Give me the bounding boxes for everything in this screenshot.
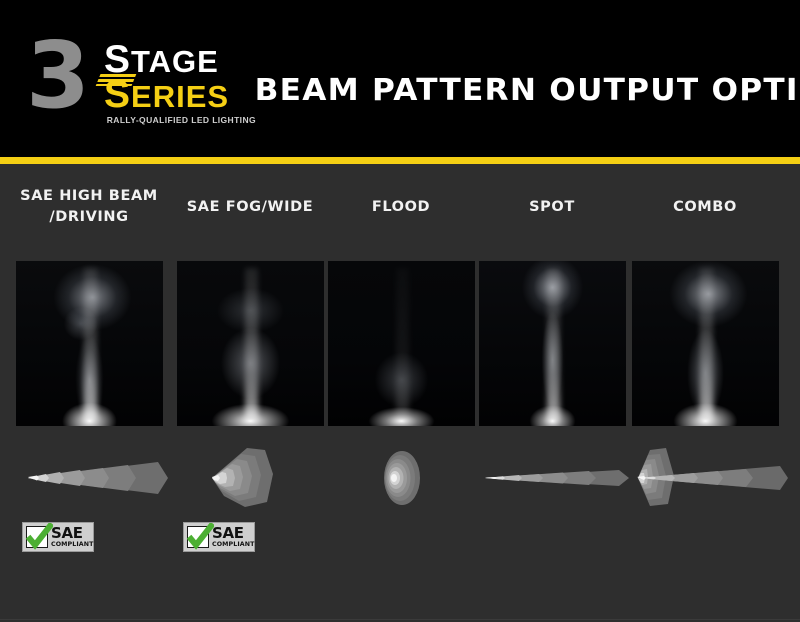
photo-road-streak (84, 268, 97, 420)
beam-column-sae-high-beam-driving: SAE HIGH BEAM /DRIVING (14, 164, 164, 622)
bottom-divider (0, 619, 800, 620)
column-header-flood: FLOOD (316, 197, 486, 218)
logo-series-cap: S (104, 73, 131, 116)
photo-road-streak (700, 268, 713, 420)
column-header-sae-fog-wide: SAE FOG/WIDE (165, 197, 335, 218)
beam-diagram-flood (320, 444, 488, 512)
badge-text: SAE COMPLIANT (212, 526, 255, 548)
badge-title: SAE (212, 526, 255, 541)
beam-column-combo: COMBO (630, 164, 780, 622)
badge-subtitle: COMPLIANT (212, 542, 255, 548)
logo-series-rest: ERIES (131, 79, 229, 114)
column-header-spot: SPOT (467, 197, 637, 218)
green-check-icon (186, 523, 214, 551)
badge-title: SAE (51, 526, 94, 541)
photo-road-streak (547, 268, 560, 420)
column-label-line1: SAE HIGH BEAM (4, 186, 174, 207)
beam-diagram-driving (8, 444, 176, 512)
column-label-line1: FLOOD (316, 197, 486, 218)
beam-diagram-wide (169, 444, 337, 512)
column-header-combo: COMBO (620, 197, 790, 218)
photo-road-streak (245, 268, 258, 420)
logo-word-series: SERIES (104, 78, 244, 113)
green-check-icon (25, 523, 53, 551)
beam-column-flood: FLOOD (326, 164, 476, 622)
beam-photo-flood (328, 261, 475, 426)
beam-photo-spot (479, 261, 626, 426)
column-label-line2: /DRIVING (4, 207, 174, 228)
logo-stage-rest: TAGE (131, 44, 219, 79)
photo-road-streak (396, 268, 409, 420)
beam-column-spot: SPOT (477, 164, 627, 622)
beam-diagram-spot (471, 444, 639, 512)
sae-compliant-badge-wide: SAE COMPLIANT (183, 522, 255, 552)
sae-compliant-badge-driving: SAE COMPLIANT (22, 522, 94, 552)
column-label-line1: COMBO (620, 197, 790, 218)
column-header-sae-high-beam-driving: SAE HIGH BEAM /DRIVING (4, 186, 174, 228)
badge-subtitle: COMPLIANT (51, 542, 94, 548)
logo-wordmark: STAGE SERIES RALLY-QUALIFIED LED LIGHTIN… (104, 44, 244, 125)
header-bar: 3 STAGE SERIES RALLY-QUALIFIED LED LIGHT… (0, 0, 800, 157)
beam-options-grid: SAE HIGH BEAM /DRIVING (0, 164, 800, 622)
beam-photo-sae-high-beam-driving (16, 261, 163, 426)
logo-tagline: RALLY-QUALIFIED LED LIGHTING (104, 115, 256, 125)
page-title: BEAM PATTERN OUTPUT OPTIONS (255, 74, 796, 108)
beam-diagram-combo (624, 444, 792, 512)
checkbox-frame (187, 526, 209, 548)
beam-column-sae-fog-wide: SAE FOG/WIDE SAE (175, 164, 325, 622)
checkbox-frame (26, 526, 48, 548)
logo-numeral-3: 3 (26, 30, 86, 122)
beam-photo-combo (632, 261, 779, 426)
accent-divider (0, 157, 800, 164)
brand-logo: 3 STAGE SERIES RALLY-QUALIFIED LED LIGHT… (26, 30, 241, 130)
column-label-line1: SPOT (467, 197, 637, 218)
column-label-line1: SAE FOG/WIDE (165, 197, 335, 218)
badge-text: SAE COMPLIANT (51, 526, 94, 548)
beam-photo-sae-fog-wide (177, 261, 324, 426)
